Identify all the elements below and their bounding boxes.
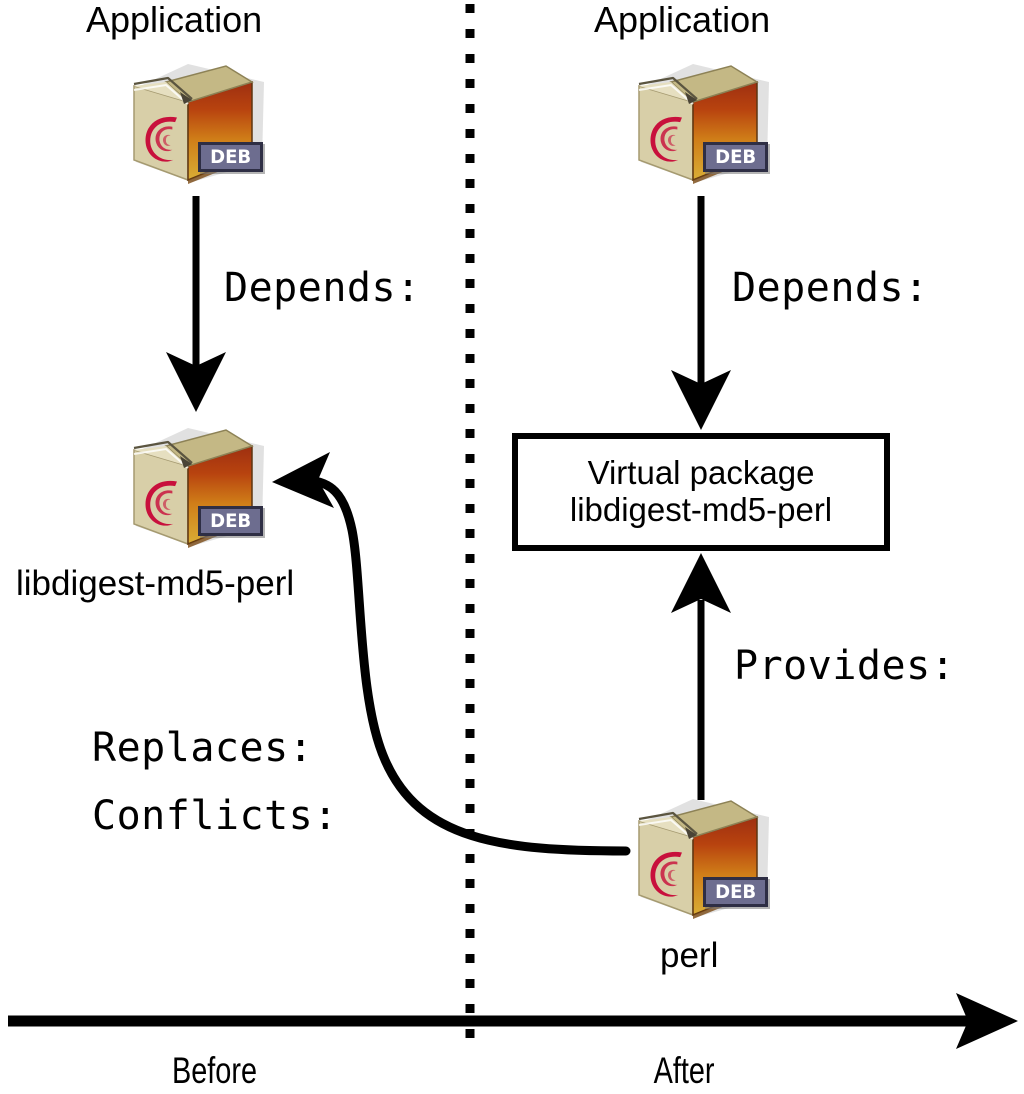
timeline-arrow	[8, 993, 1018, 1049]
deb-badge-label: DEB	[210, 512, 251, 531]
deb-badge: DEB	[703, 142, 768, 172]
replaces-label: Replaces:	[92, 728, 313, 768]
after-depends-label: Depends:	[732, 268, 929, 308]
virtual-package-line1: Virtual package	[588, 455, 815, 492]
after-perl-package-icon: DEB	[627, 793, 777, 921]
deb-badge: DEB	[198, 142, 263, 172]
before-application-package-icon: DEB	[122, 58, 272, 186]
deb-badge-label: DEB	[715, 148, 756, 167]
timeline-before-label: Before	[172, 1052, 257, 1089]
deb-badge: DEB	[703, 877, 768, 907]
provides-label: Provides:	[734, 646, 955, 686]
deb-badge-label: DEB	[715, 883, 756, 902]
before-depends-label: Depends:	[224, 268, 421, 308]
virtual-package-box: Virtual package libdigest-md5-perl	[512, 433, 890, 551]
before-application-label: Application	[86, 2, 262, 38]
after-application-label: Application	[594, 2, 770, 38]
after-provides-arrow	[671, 553, 731, 800]
timeline-after-label: After	[654, 1052, 715, 1089]
before-libdigest-label: libdigest-md5-perl	[16, 566, 294, 601]
before-depends-arrow	[166, 196, 226, 412]
after-perl-label: perl	[660, 938, 718, 973]
diagram-canvas: DEB DEB DEB DEB Virtual package libdiges…	[0, 0, 1024, 1094]
after-application-package-icon: DEB	[627, 58, 777, 186]
before-libdigest-package-icon: DEB	[122, 422, 272, 550]
deb-badge-label: DEB	[210, 148, 251, 167]
deb-badge: DEB	[198, 506, 263, 536]
conflicts-label: Conflicts:	[92, 796, 338, 836]
after-depends-arrow	[671, 196, 731, 430]
virtual-package-line2: libdigest-md5-perl	[570, 492, 832, 529]
